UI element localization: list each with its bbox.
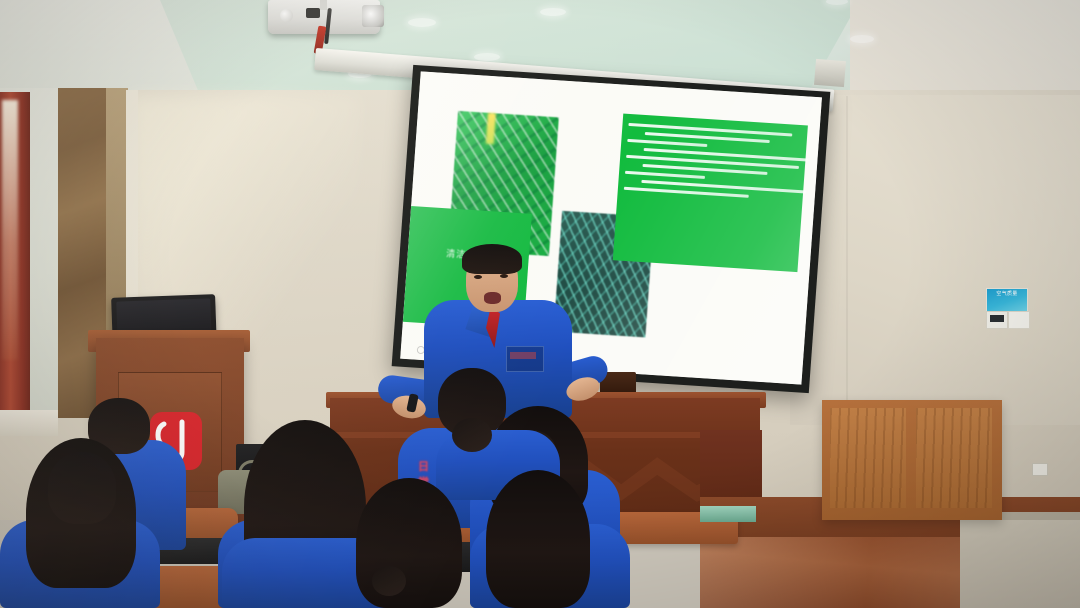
presenter-eye-left xyxy=(474,275,482,279)
screen-roller-end-cap xyxy=(814,59,846,87)
projector-mount xyxy=(320,0,327,10)
ceiling-light-icon xyxy=(850,35,874,43)
projector-focus-knob[interactable] xyxy=(280,9,293,22)
thermostat-display[interactable] xyxy=(986,311,1008,329)
cabinet-door-right[interactable] xyxy=(916,408,992,508)
attendee-hair xyxy=(486,470,590,608)
attendee-hair xyxy=(356,478,462,608)
window-sill xyxy=(0,410,58,436)
wall-panel-switch[interactable] xyxy=(1008,311,1030,329)
cabinet-door-left[interactable] xyxy=(830,408,906,508)
ceiling-light-icon xyxy=(474,53,500,61)
wall-control-panel[interactable]: 空气质量 xyxy=(986,288,1028,312)
attendee-hair-bun xyxy=(452,418,492,452)
presenter-eye-right xyxy=(500,274,508,278)
power-outlet[interactable] xyxy=(1032,463,1048,476)
wall-cabinet[interactable] xyxy=(822,400,1002,520)
slide-text-block xyxy=(613,113,808,271)
projector-lens-icon xyxy=(362,5,384,27)
wall-seam xyxy=(846,96,848,426)
attendee-hair-bun xyxy=(372,566,406,596)
presenter-mouth xyxy=(484,292,501,304)
attendee-head xyxy=(48,452,116,524)
window-glass xyxy=(2,100,18,360)
ceiling-light-icon xyxy=(408,18,436,27)
projector-clip xyxy=(306,8,320,18)
floor-right xyxy=(960,520,1080,608)
side-table-glass xyxy=(700,506,756,522)
presenter-chest-pocket xyxy=(506,346,544,372)
photo-scene: 空气质量 清洁生产措施 xyxy=(0,0,1080,608)
presenter-hair xyxy=(462,244,522,274)
wall-panel-label: 空气质量 xyxy=(989,291,1025,309)
right-wall xyxy=(790,95,1080,425)
presenter-pocket-tag xyxy=(510,352,536,359)
ceiling-light-icon xyxy=(540,8,566,16)
